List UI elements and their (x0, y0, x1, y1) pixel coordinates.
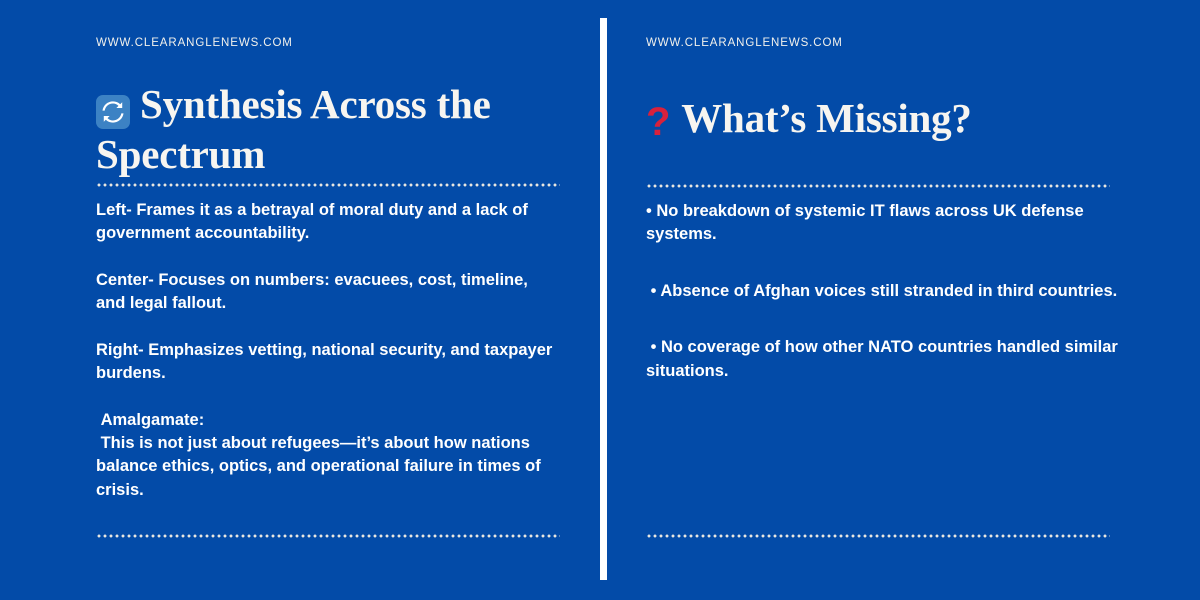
right-site-url: WWW.CLEARANGLENEWS.COM (646, 37, 843, 49)
sync-refresh-icon (96, 95, 130, 129)
left-panel: WWW.CLEARANGLENEWS.COM Synthesis Across … (0, 0, 600, 600)
left-paragraph-2: Center- Focuses on numbers: evacuees, co… (96, 269, 560, 316)
left-site-url: WWW.CLEARANGLENEWS.COM (96, 37, 293, 49)
red-question-mark-icon: ? (646, 102, 670, 142)
right-bottom-divider (646, 534, 1110, 538)
left-body: Left- Frames it as a betrayal of moral d… (96, 199, 560, 502)
left-top-divider (96, 183, 560, 187)
right-headline-block: ?What’s Missing? (646, 96, 1120, 142)
right-paragraph-3: • No coverage of how other NATO countrie… (646, 336, 1122, 383)
left-bottom-divider (96, 534, 560, 538)
left-headline-text: Synthesis Across the Spectrum (96, 81, 491, 177)
slide-canvas: WWW.CLEARANGLENEWS.COM Synthesis Across … (0, 0, 1200, 600)
left-paragraph-4: Amalgamate: This is not just about refug… (96, 409, 560, 503)
left-headline-block: Synthesis Across the Spectrum (96, 82, 556, 177)
left-paragraph-3: Right- Emphasizes vetting, national secu… (96, 339, 560, 386)
right-headline-text: What’s Missing? (681, 95, 972, 141)
center-divider (600, 18, 607, 580)
right-body: • No breakdown of systemic IT flaws acro… (646, 200, 1122, 416)
right-paragraph-2: • Absence of Afghan voices still strande… (646, 280, 1122, 303)
left-paragraph-1: Left- Frames it as a betrayal of moral d… (96, 199, 560, 246)
sync-refresh-icon-wrapper (96, 88, 130, 132)
right-panel: WWW.CLEARANGLENEWS.COM ?What’s Missing? … (620, 0, 1200, 600)
right-top-divider (646, 184, 1110, 188)
right-paragraph-1: • No breakdown of systemic IT flaws acro… (646, 200, 1122, 247)
